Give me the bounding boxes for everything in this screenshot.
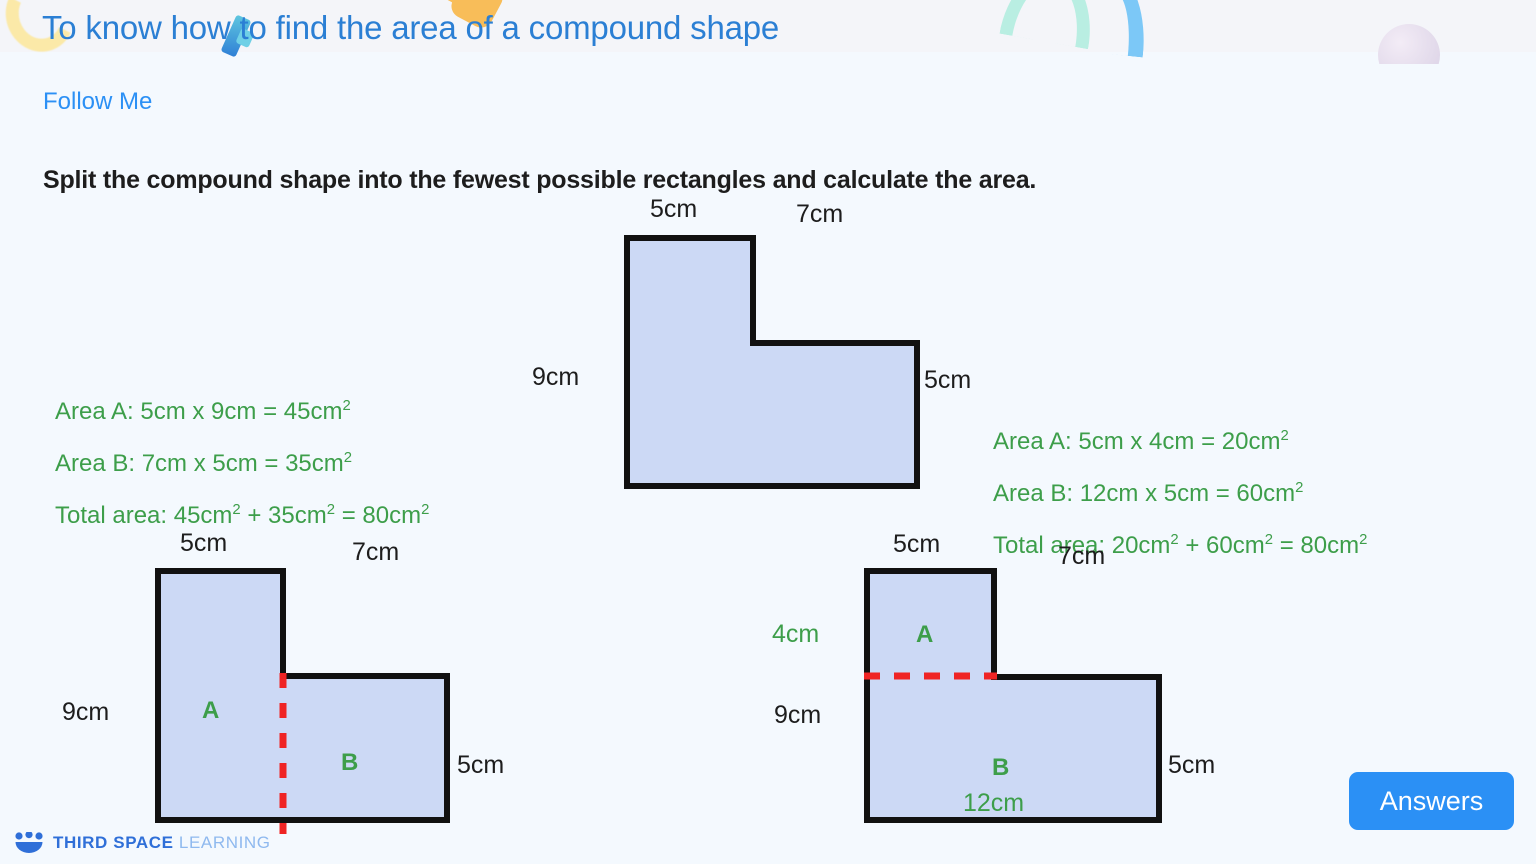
dim-top-5cm: 5cm [650,195,697,224]
superscript-two: 2 [1170,532,1178,548]
calc-total: Total area: 20cm2 + 60cm2 = 80cm2 [993,534,1367,558]
superscript-two: 2 [232,502,240,518]
follow-me-label: Follow Me [43,88,152,116]
calc-area-b: Area B: 12cm x 5cm = 60cm2 [993,482,1367,506]
calc-area-a-text: Area A: 5cm x 9cm = 45cm [55,398,342,425]
calc-area-b-text: Area B: 12cm x 5cm = 60cm [993,480,1295,507]
dim-right-5cm: 5cm [457,751,504,780]
third-space-learning-logo-icon [14,832,44,854]
calc-total-pre: Total area: 45cm [55,502,232,529]
superscript-two: 2 [327,502,335,518]
part-label-b: B [992,754,1009,782]
dim-left-9cm: 9cm [62,698,109,727]
superscript-two: 2 [342,398,350,414]
calc-area-b: Area B: 7cm x 5cm = 35cm2 [55,452,429,476]
superscript-two: 2 [421,502,429,518]
dim-right-5cm: 5cm [924,366,971,395]
l-shape-outline [624,235,920,489]
superscript-two: 2 [1265,532,1273,548]
dim-step-7cm: 7cm [352,538,399,567]
calc-area-a: Area A: 5cm x 9cm = 45cm2 [55,400,429,424]
calc-total-mid: + 35cm [241,502,327,529]
calc-total-mid: + 60cm [1179,532,1265,559]
compound-shape-unsplit: 5cm 7cm 9cm 5cm [624,235,920,489]
calculation-block-horizontal-split: Area A: 5cm x 4cm = 20cm2 Area B: 12cm x… [993,430,1367,558]
brand-logo: THIRD SPACE LEARNING [14,832,271,854]
dim-bottom-inner-12cm: 12cm [963,789,1024,818]
dim-step-7cm: 7cm [796,200,843,229]
dim-left-9cm: 9cm [532,363,579,392]
compound-shape-split-vertical: 5cm 7cm 9cm 5cm A B [155,568,452,825]
logo-text-light: LEARNING [174,833,271,852]
part-label-a: A [202,697,219,725]
calc-area-a-text: Area A: 5cm x 4cm = 20cm [993,428,1280,455]
dim-right-5cm: 5cm [1168,751,1215,780]
logo-text-bold: THIRD SPACE [53,833,174,852]
calc-area-a: Area A: 5cm x 4cm = 20cm2 [993,430,1367,454]
calculation-block-vertical-split: Area A: 5cm x 9cm = 45cm2 Area B: 7cm x … [55,400,429,528]
dim-top-5cm: 5cm [180,529,227,558]
superscript-two: 2 [1359,532,1367,548]
answers-button[interactable]: Answers [1349,772,1514,830]
dim-step-7cm: 7cm [1058,542,1105,571]
dim-left-lower-9cm: 9cm [774,701,821,730]
superscript-two: 2 [1295,480,1303,496]
calc-total-end: = 80cm [1273,532,1359,559]
superscript-two: 2 [1280,428,1288,444]
compound-shape-split-horizontal: 5cm 7cm 4cm 9cm 5cm 12cm A B [864,568,1160,825]
superscript-two: 2 [344,450,352,466]
l-shape-outline-with-split [155,568,452,836]
instruction-text: Split the compound shape into the fewest… [43,166,1036,195]
calc-total: Total area: 45cm2 + 35cm2 = 80cm2 [55,504,429,528]
dim-top-5cm: 5cm [893,530,940,559]
calc-area-b-text: Area B: 7cm x 5cm = 35cm [55,450,344,477]
logo-mark-svg [14,832,44,854]
dim-left-upper-4cm: 4cm [772,620,819,649]
part-label-b: B [341,749,358,777]
logo-wordmark: THIRD SPACE LEARNING [53,833,271,853]
page-title: To know how to find the area of a compou… [42,9,779,47]
calc-total-end: = 80cm [335,502,421,529]
part-label-a: A [916,621,933,649]
